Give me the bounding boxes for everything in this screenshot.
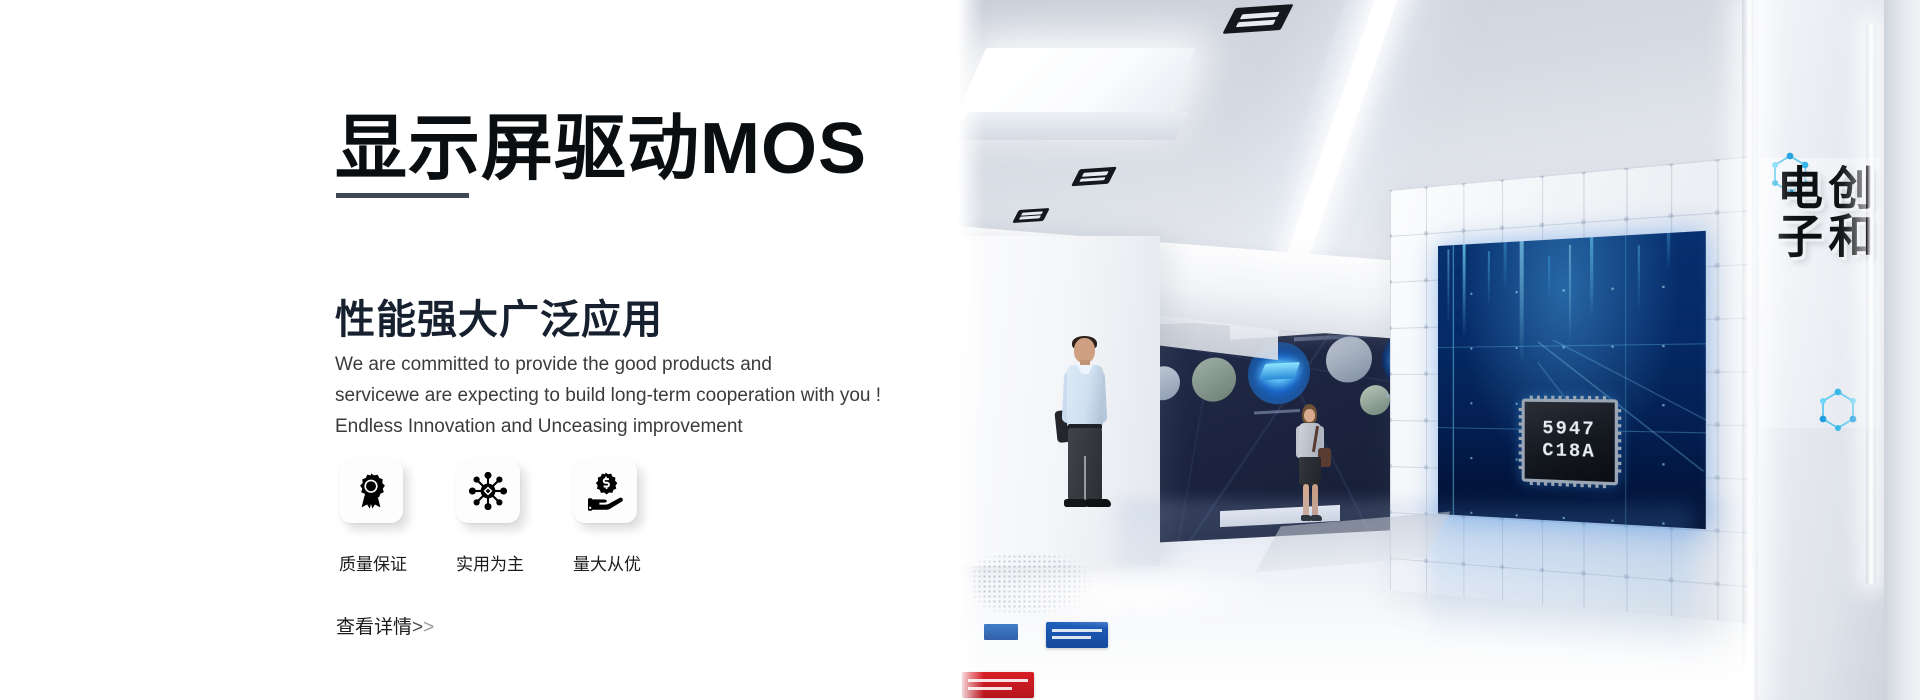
feature-label: 实用为主: [456, 550, 524, 575]
right-wall-edge: [1884, 0, 1920, 700]
paragraph-line-3: Endless Innovation and Unceasing improve…: [335, 411, 895, 442]
chevron-right-icon-1: >: [412, 617, 423, 638]
screen-floor-reflection: [1428, 506, 1696, 665]
page-title: 显示屏驱动MOS: [335, 106, 867, 192]
chip-label-line-2: C18A: [1542, 441, 1596, 465]
brand-wall: 创和 电子: [1754, 0, 1884, 700]
led-circuit-display: 5947 C18A: [1438, 231, 1706, 529]
photo-left-fade: [958, 0, 984, 700]
chip-pins-right: [1617, 409, 1621, 476]
feature-label: 量大从优: [573, 550, 641, 575]
chip-graphic: 5947 C18A: [1522, 399, 1618, 486]
feature-icon-box: [456, 459, 520, 523]
chip-label-line-1: 5947: [1542, 419, 1596, 442]
hero-banner: 显示屏驱动MOS 性能强大广泛应用 We are committed to pr…: [0, 0, 1920, 700]
paragraph-line-1: We are committed to provide the good pro…: [335, 349, 895, 380]
vertical-light-strip: [1742, 0, 1758, 700]
chip-pins-left: [1519, 408, 1523, 472]
feature-icon-box: [573, 459, 637, 523]
feature-item-quality[interactable]: 质量保证: [336, 459, 453, 575]
subtitle: 性能强大广泛应用: [335, 295, 663, 345]
showroom-photo: 5947 C18A 创和: [958, 0, 1920, 700]
vertical-light-strip-2: [1866, 24, 1876, 584]
award-ribbon-icon: [351, 471, 391, 511]
feature-icon-box: [339, 459, 403, 523]
feature-label: 质量保证: [339, 550, 407, 575]
feature-list: 质量保证: [336, 459, 687, 575]
hand-money-icon: [585, 471, 625, 511]
skylight-edge: [958, 112, 1188, 140]
feature-item-practical[interactable]: 实用为主: [453, 459, 570, 575]
description-paragraph: We are committed to provide the good pro…: [335, 349, 895, 442]
person-standing-man: [1050, 338, 1120, 514]
chip-pins-top: [1530, 396, 1609, 401]
network-hub-icon: [468, 471, 508, 511]
view-details-link[interactable]: 查看详情>>: [336, 612, 434, 639]
title-divider: [336, 193, 469, 198]
brand-sign-column-2: 电子: [1773, 164, 1820, 426]
floor-highlight: [988, 560, 1288, 630]
hexagon-molecule-icon: [1816, 386, 1860, 436]
paragraph-line-2: servicewe are expecting to build long-te…: [335, 380, 895, 411]
skylight-panel-light: [958, 48, 1196, 120]
left-text-panel: 显示屏驱动MOS 性能强大广泛应用 We are committed to pr…: [0, 0, 958, 700]
feature-item-bulk-discount[interactable]: 量大从优: [570, 459, 687, 575]
chevron-right-icon-2: >: [423, 617, 434, 638]
view-details-label: 查看详情: [336, 617, 412, 638]
